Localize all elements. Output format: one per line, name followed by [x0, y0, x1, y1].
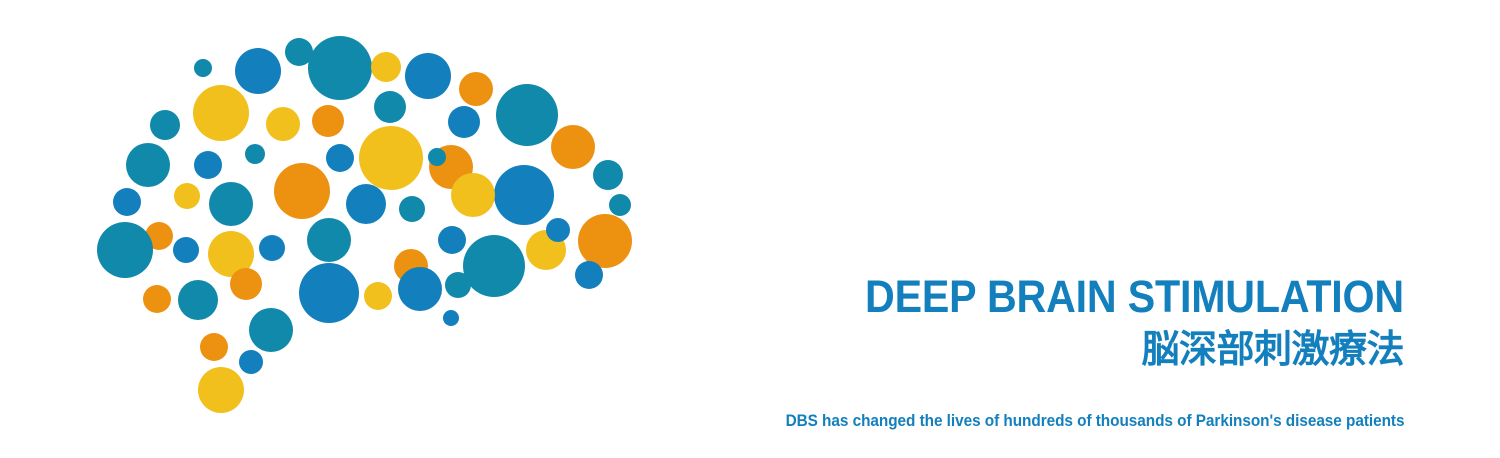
brain-dot: [209, 182, 253, 226]
brain-dot: [126, 143, 170, 187]
brain-dot: [359, 126, 423, 190]
brain-dot: [198, 367, 244, 413]
brain-dot: [578, 214, 632, 268]
brain-dot: [546, 218, 570, 242]
brain-dots-svg: [0, 0, 700, 458]
brain-dot: [463, 235, 525, 297]
brain-dot: [398, 267, 442, 311]
brain-dot: [405, 53, 451, 99]
poster-root: DEEP BRAIN STIMULATION 脳深部刺激療法 DBS has c…: [0, 0, 1500, 458]
brain-dot: [230, 268, 262, 300]
brain-dot: [249, 308, 293, 352]
brain-dot: [428, 148, 446, 166]
brain-dot: [374, 91, 406, 123]
brain-dot: [193, 85, 249, 141]
brain-dot: [239, 350, 263, 374]
brain-dot: [173, 237, 199, 263]
brain-dot: [245, 144, 265, 164]
headline-block: DEEP BRAIN STIMULATION 脳深部刺激療法 DBS has c…: [640, 0, 1500, 458]
brain-dot: [307, 218, 351, 262]
brain-dot: [178, 280, 218, 320]
brain-dot: [200, 333, 228, 361]
brain-dot: [364, 282, 392, 310]
brain-dot: [399, 196, 425, 222]
brain-dot: [445, 272, 471, 298]
brain-dot: [438, 226, 466, 254]
page-title-japanese: 脳深部刺激療法: [1141, 328, 1404, 370]
brain-dot: [371, 52, 401, 82]
brain-dot: [593, 160, 623, 190]
brain-dot: [609, 194, 631, 216]
brain-dot: [235, 48, 281, 94]
page-title: DEEP BRAIN STIMULATION: [865, 274, 1404, 320]
brain-dot: [308, 36, 372, 100]
brain-dot: [451, 173, 495, 217]
brain-dot: [274, 163, 330, 219]
brain-dot: [174, 183, 200, 209]
brain-dot: [259, 235, 285, 261]
brain-dot: [448, 106, 480, 138]
brain-dot: [312, 105, 344, 137]
brain-dot: [496, 84, 558, 146]
brain-dot: [143, 285, 171, 313]
brain-dot: [575, 261, 603, 289]
brain-dot: [346, 184, 386, 224]
brain-dot: [113, 188, 141, 216]
brain-dot: [459, 72, 493, 106]
brain-dot: [494, 165, 554, 225]
brain-dot: [443, 310, 459, 326]
brain-dot: [194, 59, 212, 77]
brain-dot: [551, 125, 595, 169]
brain-dot-layer: [97, 36, 632, 413]
brain-dot: [150, 110, 180, 140]
brain-dot: [194, 151, 222, 179]
page-subtitle: DBS has changed the lives of hundreds of…: [785, 410, 1404, 432]
brain-dot: [97, 222, 153, 278]
brain-dot: [266, 107, 300, 141]
brain-dot: [299, 263, 359, 323]
brain-dot: [326, 144, 354, 172]
brain-dot-illustration: [0, 0, 700, 458]
